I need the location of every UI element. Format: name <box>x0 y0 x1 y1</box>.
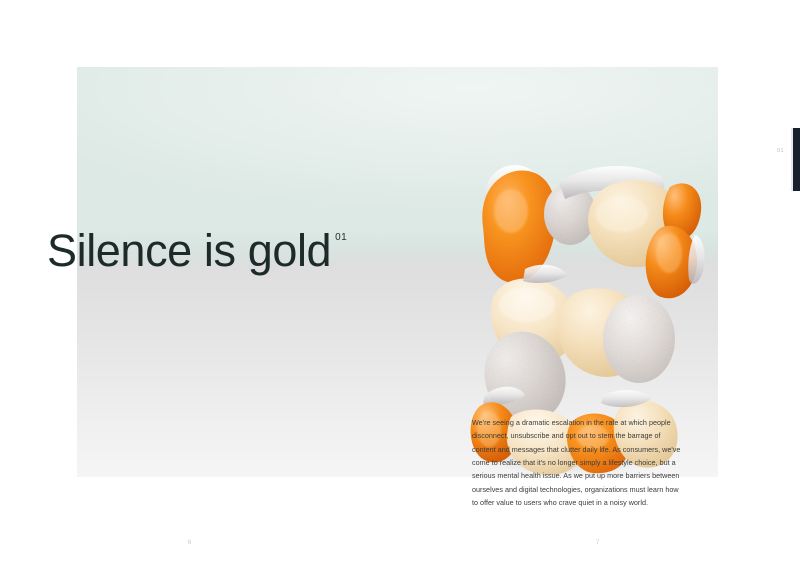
document-spread: Silence is gold 01 We're seeing a dramat… <box>0 0 800 564</box>
chapter-tab-label: 01 <box>777 148 784 154</box>
headline-superscript: 01 <box>335 233 347 243</box>
folio-left: 6 <box>188 540 192 546</box>
spread-canvas: Silence is gold 01 We're seeing a dramat… <box>0 0 800 564</box>
page-title: Silence is gold 01 <box>47 228 347 273</box>
folio-right: 7 <box>596 540 600 546</box>
page-gutter <box>398 67 399 477</box>
chapter-tab-bar[interactable] <box>793 128 800 191</box>
headline-text: Silence is gold <box>47 228 331 273</box>
body-copy: We're seeing a dramatic escalation in th… <box>472 416 684 509</box>
